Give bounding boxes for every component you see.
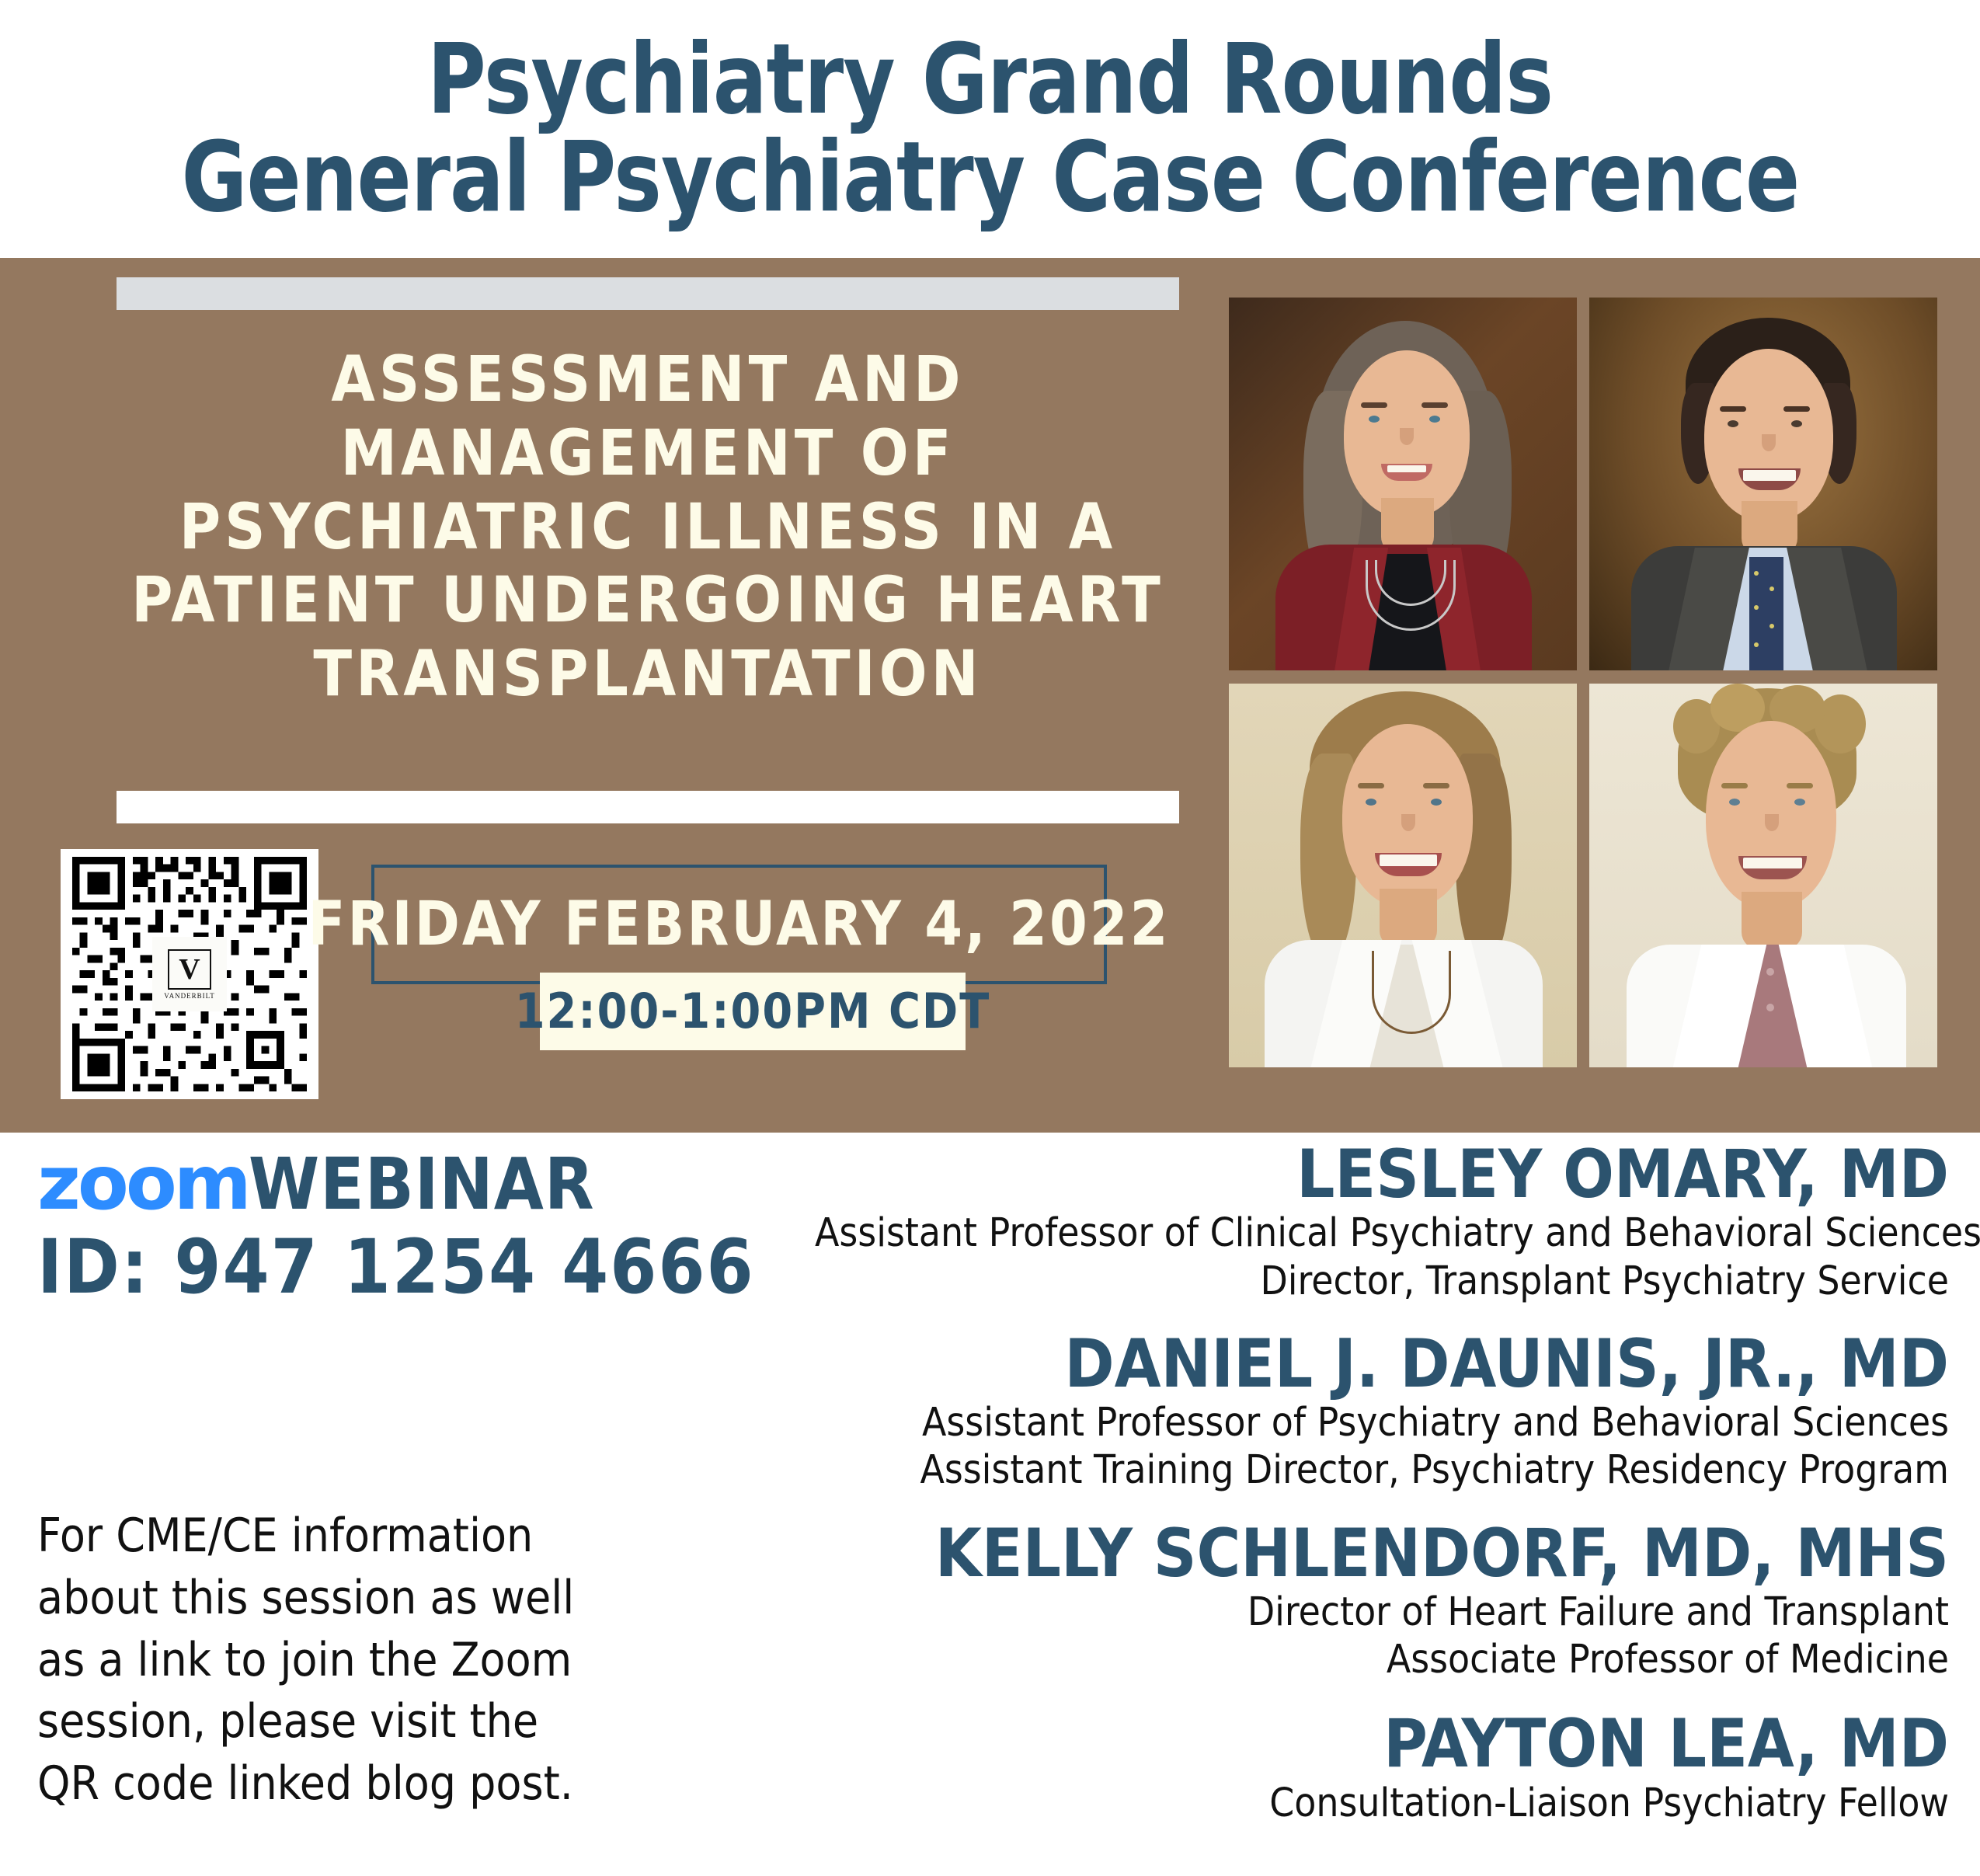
cme-information-text: For CME/CE information about this sessio…: [37, 1505, 604, 1815]
feature-band: Assessment and Management of Psychiatric…: [0, 258, 1980, 1133]
poster-header: Psychiatry Grand Rounds General Psychiat…: [0, 0, 1980, 258]
speaker-title-line: Director of Heart Failure and Transplant: [815, 1589, 1949, 1636]
speaker-photo-4: [1589, 684, 1937, 1067]
zoom-product-text: WEBINAR: [249, 1149, 595, 1220]
speaker-entry: PAYTON LEA, MD Consultation-Liaison Psyc…: [815, 1710, 1949, 1827]
session-title: Assessment and Management of Psychiatric…: [117, 343, 1179, 712]
zoom-webinar-id[interactable]: ID: 947 1254 4666: [37, 1230, 755, 1304]
speaker-title-line: Consultation-Liaison Psychiatry Fellow: [815, 1780, 1949, 1827]
speaker-title-line: Assistant Training Director, Psychiatry …: [815, 1446, 1949, 1494]
divider-bar-top: [117, 277, 1179, 310]
speaker-entry: KELLY SCHLENDORF, MD, MHS Director of He…: [815, 1519, 1949, 1684]
header-title-line1: Psychiatry Grand Rounds: [427, 33, 1553, 128]
divider-bar-bottom: [117, 791, 1179, 823]
speaker-name: LESLEY OMARY, MD: [815, 1140, 1949, 1209]
speaker-title-line: Director, Transplant Psychiatry Service: [815, 1258, 1949, 1305]
speaker-name: PAYTON LEA, MD: [815, 1710, 1949, 1779]
event-date-box: FRIDAY FEBRUARY 4, 2022: [371, 865, 1107, 984]
speaker-title-line: Assistant Professor of Clinical Psychiat…: [815, 1209, 1949, 1257]
poster-footer: zoom WEBINAR ID: 947 1254 4666 For CME/C…: [0, 1133, 1980, 1876]
zoom-brand-text: zoom: [37, 1146, 249, 1220]
qr-code[interactable]: V VANDERBILT: [61, 849, 318, 1099]
poster-root: Psychiatry Grand Rounds General Psychiat…: [0, 0, 1980, 1876]
event-time: 12:00-1:00PM CDT: [515, 987, 991, 1035]
event-time-box: 12:00-1:00PM CDT: [540, 973, 966, 1050]
vanderbilt-v-mark: V: [168, 949, 211, 990]
speaker-photo-3: [1229, 684, 1577, 1067]
vanderbilt-logo-icon: V VANDERBILT: [152, 937, 227, 1011]
speaker-name: DANIEL J. DAUNIS, JR., MD: [815, 1330, 1949, 1399]
speaker-title-line: Associate Professor of Medicine: [815, 1636, 1949, 1683]
zoom-webinar-logo: zoom WEBINAR: [37, 1146, 595, 1220]
speaker-list: LESLEY OMARY, MD Assistant Professor of …: [815, 1133, 1949, 1833]
event-date: FRIDAY FEBRUARY 4, 2022: [308, 894, 1171, 955]
speaker-photo-2: [1589, 298, 1937, 670]
vanderbilt-wordmark: VANDERBILT: [164, 992, 215, 1000]
speaker-title-line: Assistant Professor of Psychiatry and Be…: [815, 1399, 1949, 1446]
speaker-photo-1: [1229, 298, 1577, 670]
speaker-entry: DANIEL J. DAUNIS, JR., MD Assistant Prof…: [815, 1330, 1949, 1495]
speaker-name: KELLY SCHLENDORF, MD, MHS: [815, 1519, 1949, 1589]
header-title-line2: General Psychiatry Case Conference: [181, 131, 1799, 226]
speaker-entry: LESLEY OMARY, MD Assistant Professor of …: [815, 1140, 1949, 1305]
